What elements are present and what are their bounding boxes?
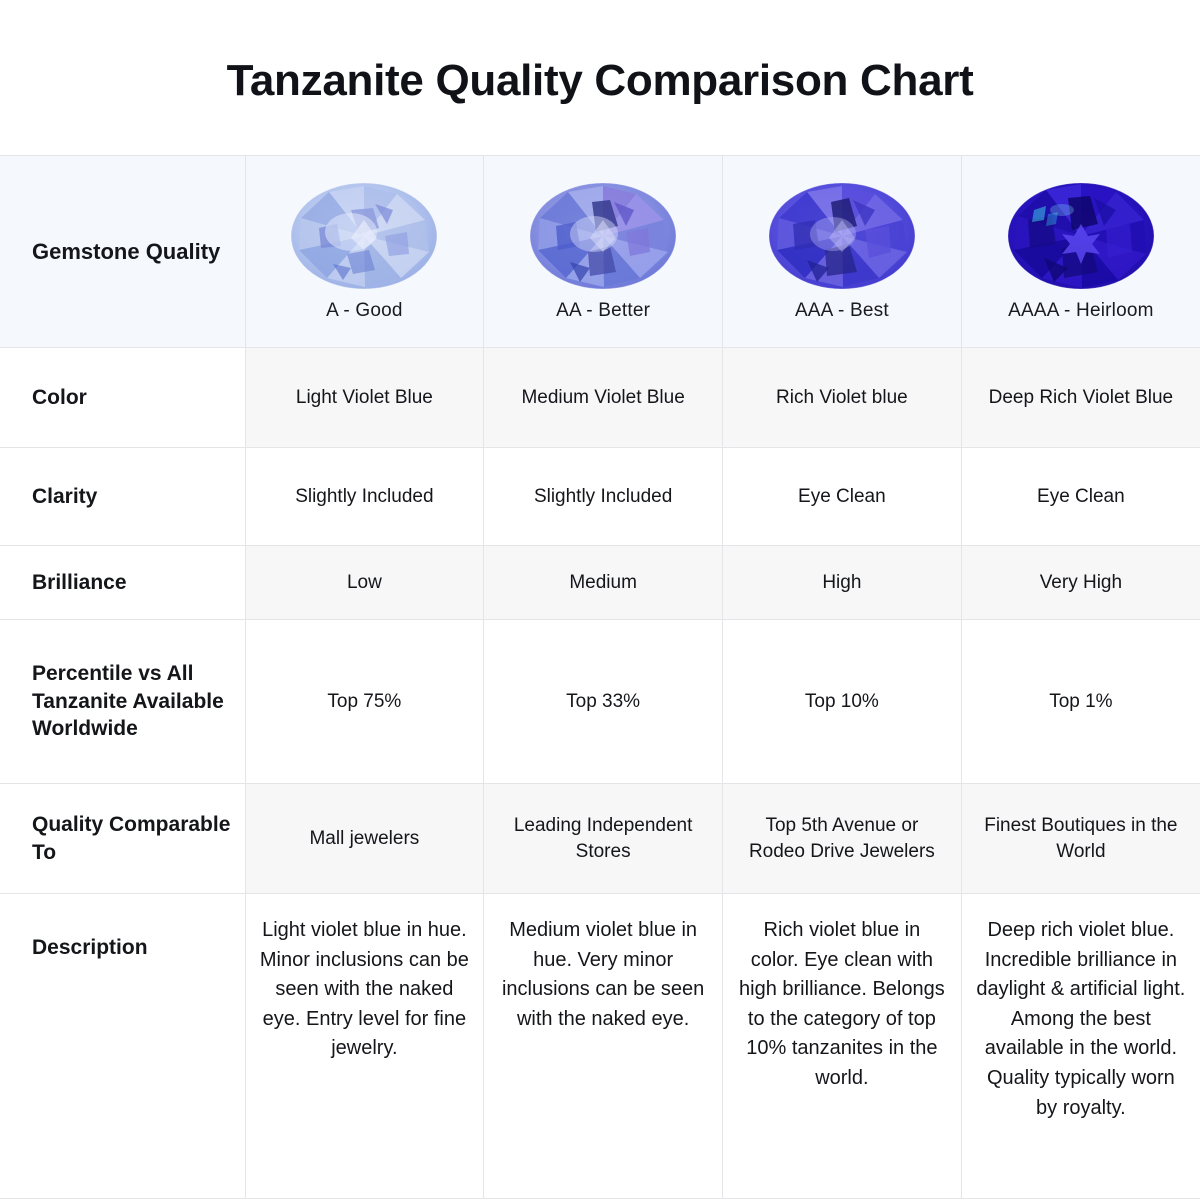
cell-brilliance-aaaa: Very High	[961, 546, 1200, 620]
cell-brilliance-aa: Medium	[484, 546, 723, 620]
cell-color-aaaa: Deep Rich Violet Blue	[961, 348, 1200, 448]
table-row-quality-comparable-to: Quality Comparable To Mall jewelers Lead…	[0, 784, 1200, 894]
row-label-description: Description	[0, 894, 245, 1199]
gem-cell-aa: AA - Better	[484, 156, 723, 348]
table-row-description: Description Light violet blue in hue. Mi…	[0, 894, 1200, 1199]
cell-percentile-aaa: Top 10%	[723, 620, 962, 784]
title-bar: Tanzanite Quality Comparison Chart	[0, 0, 1200, 155]
cell-brilliance-aaa: High	[723, 546, 962, 620]
cell-quality-aaaa: Finest Boutiques in the World	[961, 784, 1200, 894]
cell-quality-a: Mall jewelers	[245, 784, 484, 894]
page-title: Tanzanite Quality Comparison Chart	[227, 56, 974, 106]
cell-brilliance-a: Low	[245, 546, 484, 620]
cell-clarity-aaaa: Eye Clean	[961, 448, 1200, 546]
cell-percentile-aa: Top 33%	[484, 620, 723, 784]
cell-color-a: Light Violet Blue	[245, 348, 484, 448]
oval-gem-deep-rich-violet-blue-icon	[1006, 180, 1156, 292]
row-label-clarity: Clarity	[0, 448, 245, 546]
cell-description-aa: Medium violet blue in hue. Very minor in…	[484, 894, 723, 1199]
row-label-gemstone-quality: Gemstone Quality	[0, 156, 245, 348]
oval-gem-light-violet-blue-icon	[289, 180, 439, 292]
gem-cell-aaa: AAA - Best	[723, 156, 962, 348]
cell-clarity-aa: Slightly Included	[484, 448, 723, 546]
cell-quality-aa: Leading Independent Stores	[484, 784, 723, 894]
cell-description-aaaa: Deep rich violet blue. Incredible brilli…	[961, 894, 1200, 1199]
gem-label-aaa: AAA - Best	[795, 298, 889, 324]
gem-cell-a: A - Good	[245, 156, 484, 348]
cell-clarity-a: Slightly Included	[245, 448, 484, 546]
gem-label-a: A - Good	[326, 298, 403, 324]
cell-description-a: Light violet blue in hue. Minor inclusio…	[245, 894, 484, 1199]
cell-description-aaa: Rich violet blue in color. Eye clean wit…	[723, 894, 962, 1199]
oval-gem-medium-violet-blue-icon	[528, 180, 678, 292]
table-row-brilliance: Brilliance Low Medium High Very High	[0, 546, 1200, 620]
quality-comparison-table: Gemstone Quality	[0, 155, 1200, 1199]
cell-percentile-a: Top 75%	[245, 620, 484, 784]
cell-percentile-aaaa: Top 1%	[961, 620, 1200, 784]
oval-gem-rich-violet-blue-icon	[767, 180, 917, 292]
row-label-color: Color	[0, 348, 245, 448]
cell-clarity-aaa: Eye Clean	[723, 448, 962, 546]
gem-label-aa: AA - Better	[556, 298, 650, 324]
gem-cell-aaaa: AAAA - Heirloom	[961, 156, 1200, 348]
row-label-percentile: Percentile vs All Tanzanite Available Wo…	[0, 620, 245, 784]
table-row-color: Color Light Violet Blue Medium Violet Bl…	[0, 348, 1200, 448]
gem-label-aaaa: AAAA - Heirloom	[1008, 298, 1154, 324]
table-row-percentile: Percentile vs All Tanzanite Available Wo…	[0, 620, 1200, 784]
cell-quality-aaa: Top 5th Avenue or Rodeo Drive Jewelers	[723, 784, 962, 894]
cell-color-aaa: Rich Violet blue	[723, 348, 962, 448]
row-label-quality-comparable-to: Quality Comparable To	[0, 784, 245, 894]
comparison-chart-page: Tanzanite Quality Comparison Chart Gemst…	[0, 0, 1200, 1200]
cell-color-aa: Medium Violet Blue	[484, 348, 723, 448]
table-row-gemstone-quality: Gemstone Quality	[0, 156, 1200, 348]
row-label-brilliance: Brilliance	[0, 546, 245, 620]
table-row-clarity: Clarity Slightly Included Slightly Inclu…	[0, 448, 1200, 546]
